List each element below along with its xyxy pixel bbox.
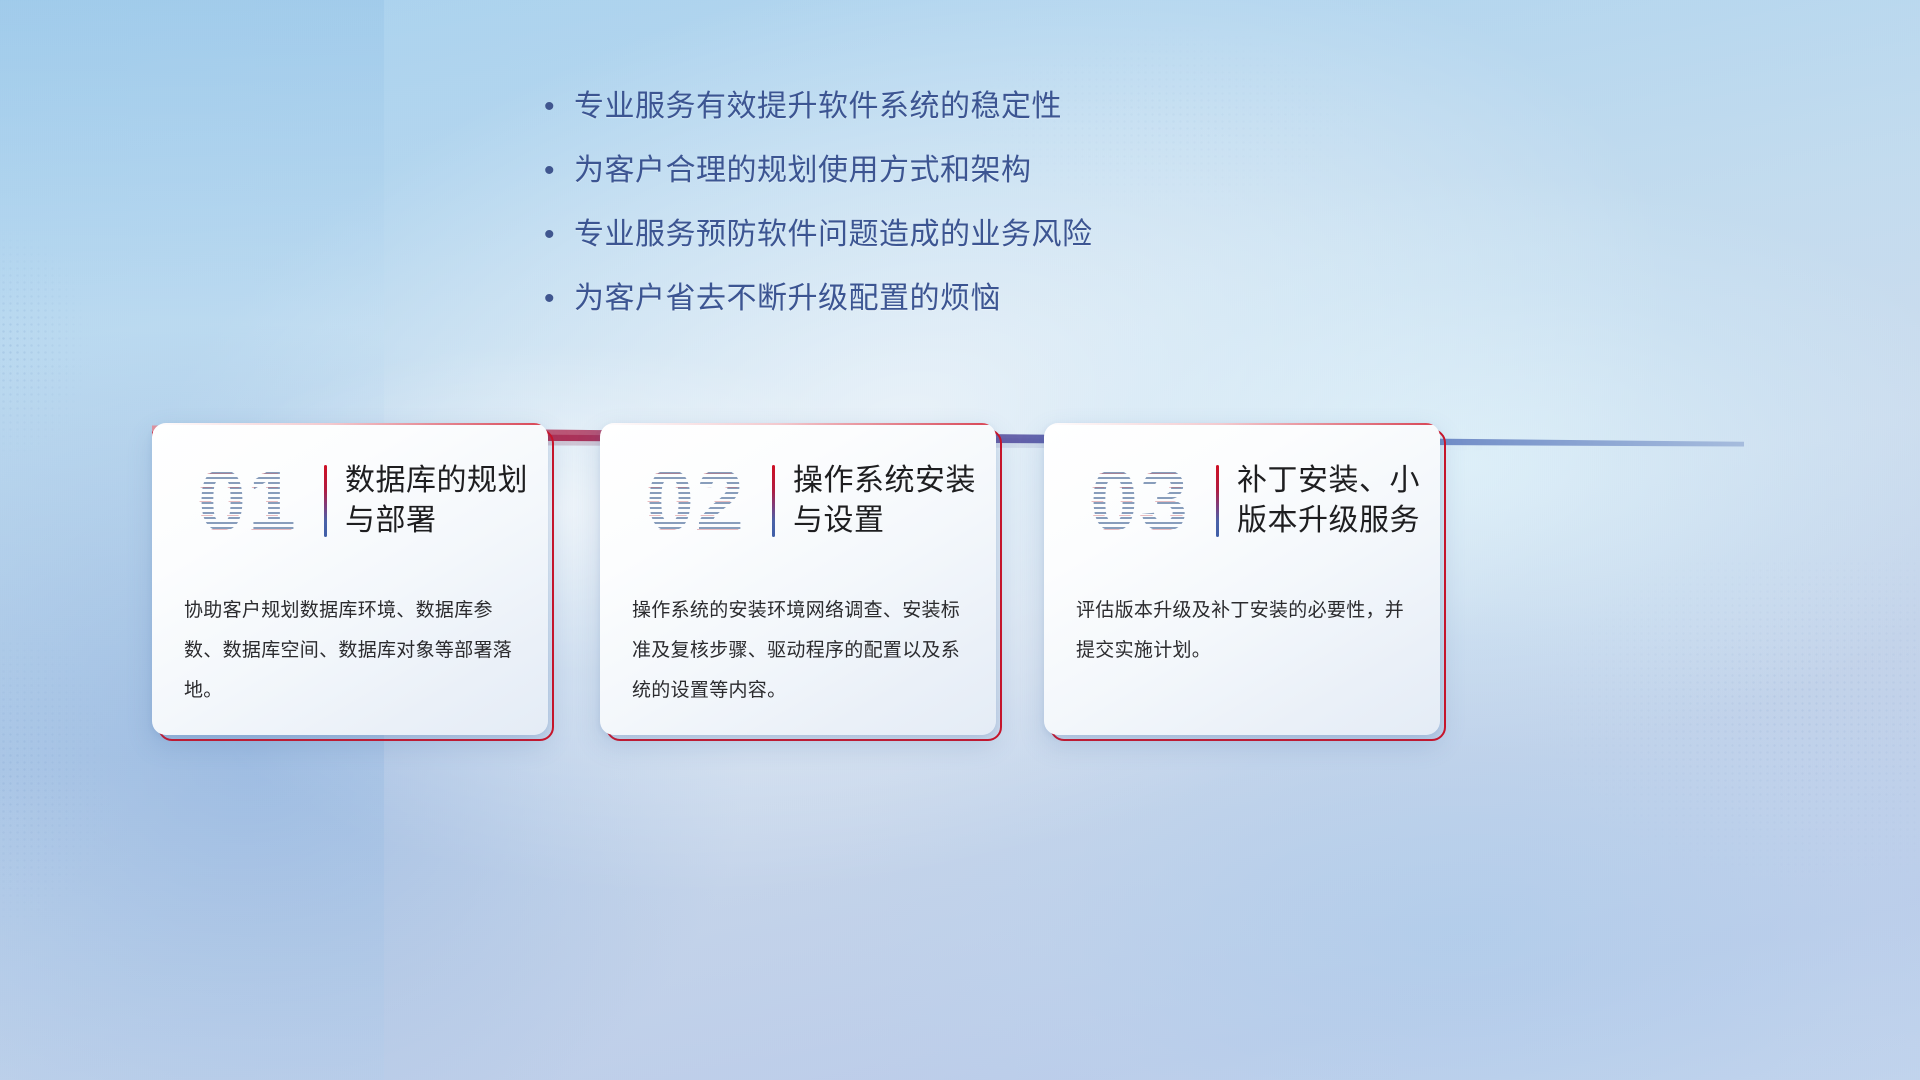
bullet-marker-icon: •: [540, 220, 574, 250]
bullet-marker-icon: •: [540, 156, 574, 186]
card-top-accent-line: [152, 423, 548, 425]
service-card-01[interactable]: 01 数据库的规划与部署 协助客户规划数据库环境、数据库参数、数据库空间、数据库…: [152, 423, 554, 741]
list-item: • 为客户合理的规划使用方式和架构: [540, 156, 1300, 220]
list-item: • 专业服务有效提升软件系统的稳定性: [540, 92, 1300, 156]
bullet-marker-icon: •: [540, 284, 574, 314]
bullet-text-3: 专业服务预防软件问题造成的业务风险: [574, 220, 1093, 250]
card-title-01: 数据库的规划与部署: [345, 461, 548, 540]
list-item: • 专业服务预防软件问题造成的业务风险: [540, 220, 1300, 284]
service-card-02[interactable]: 02 操作系统安装与设置 操作系统的安装环境网络调查、安装标准及复核步骤、驱动程…: [600, 423, 1002, 741]
card-number-02: 02: [624, 458, 768, 544]
card-number-03: 03: [1068, 458, 1212, 544]
bullet-text-2: 为客户合理的规划使用方式和架构: [574, 156, 1032, 186]
card-number-01: 01: [176, 458, 320, 544]
card-description-02: 操作系统的安装环境网络调查、安装标准及复核步骤、驱动程序的配置以及系统的设置等内…: [632, 591, 970, 711]
card-top-accent-line: [1044, 423, 1440, 425]
card-header: 01 数据库的规划与部署: [152, 437, 548, 565]
card-description-01: 协助客户规划数据库环境、数据库参数、数据库空间、数据库对象等部署落地。: [184, 591, 522, 711]
card-surface: 03 补丁安装、小版本升级服务 评估版本升级及补丁安装的必要性，并提交实施计划。: [1044, 423, 1440, 735]
card-title-02: 操作系统安装与设置: [793, 461, 996, 540]
card-surface: 01 数据库的规划与部署 协助客户规划数据库环境、数据库参数、数据库空间、数据库…: [152, 423, 548, 735]
card-top-accent-line: [600, 423, 996, 425]
service-cards: 01 数据库的规划与部署 协助客户规划数据库环境、数据库参数、数据库空间、数据库…: [152, 423, 1768, 923]
bullet-text-4: 为客户省去不断升级配置的烦恼: [574, 284, 1001, 314]
benefits-bullet-list: • 专业服务有效提升软件系统的稳定性 • 为客户合理的规划使用方式和架构 • 专…: [540, 92, 1300, 348]
card-title-divider: [324, 465, 327, 537]
card-title-divider: [1216, 465, 1219, 537]
card-header: 02 操作系统安装与设置: [600, 437, 996, 565]
card-title-divider: [772, 465, 775, 537]
card-title-03: 补丁安装、小版本升级服务: [1237, 461, 1440, 540]
card-description-03: 评估版本升级及补丁安装的必要性，并提交实施计划。: [1076, 591, 1414, 671]
service-card-03[interactable]: 03 补丁安装、小版本升级服务 评估版本升级及补丁安装的必要性，并提交实施计划。: [1044, 423, 1446, 741]
list-item: • 为客户省去不断升级配置的烦恼: [540, 284, 1300, 348]
card-surface: 02 操作系统安装与设置 操作系统的安装环境网络调查、安装标准及复核步骤、驱动程…: [600, 423, 996, 735]
bullet-marker-icon: •: [540, 92, 574, 122]
card-header: 03 补丁安装、小版本升级服务: [1044, 437, 1440, 565]
bullet-text-1: 专业服务有效提升软件系统的稳定性: [574, 92, 1062, 122]
